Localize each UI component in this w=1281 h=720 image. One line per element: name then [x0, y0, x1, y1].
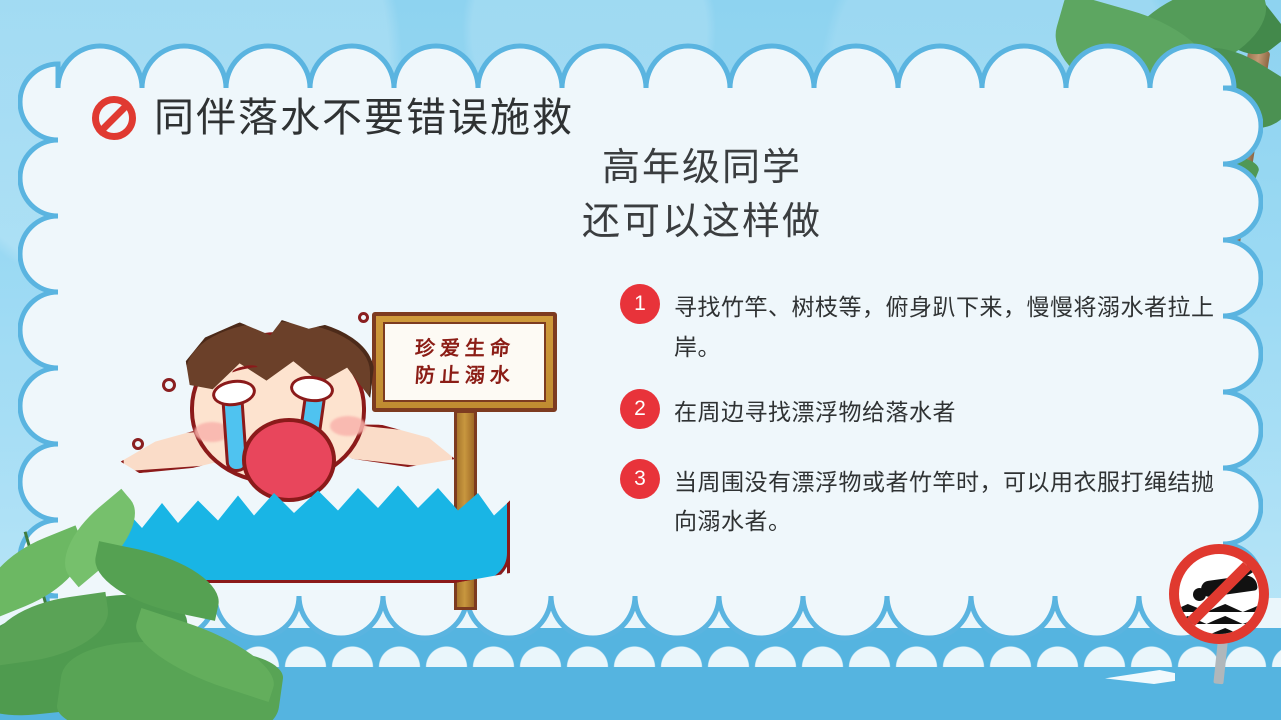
subtitle: 高年级同学 还可以这样做	[452, 142, 952, 250]
subtitle-line-1: 高年级同学	[452, 142, 952, 196]
sign-text-line-2: 防止溺水	[414, 363, 516, 388]
list-item-text: 在周边寻找漂浮物给落水者	[674, 393, 956, 433]
list-item-text: 寻找竹竿、树枝等，俯身趴下来，慢慢将溺水者拉上岸。	[674, 288, 1220, 367]
bubble-icon	[132, 438, 144, 450]
advice-list: 1 寻找竹竿、树枝等，俯身趴下来，慢慢将溺水者拉上岸。 2 在周边寻找漂浮物给落…	[620, 288, 1220, 568]
page-title: 同伴落水不要错误施救	[154, 98, 574, 138]
no-swimming-icon	[1169, 544, 1269, 644]
sign-text-line-1: 珍爱生命	[414, 336, 516, 361]
list-item-number: 3	[620, 459, 660, 499]
wave-line	[1179, 628, 1269, 636]
leaves-decoration	[0, 450, 270, 720]
list-item: 3 当周围没有漂浮物或者竹竿时，可以用衣服打绳结抛向溺水者。	[620, 463, 1220, 542]
list-item-number: 2	[620, 389, 660, 429]
list-item: 1 寻找竹竿、树枝等，俯身趴下来，慢慢将溺水者拉上岸。	[620, 288, 1220, 367]
swimmer-head	[1193, 588, 1206, 601]
subtitle-line-2: 还可以这样做	[452, 196, 952, 250]
list-item-number: 1	[620, 284, 660, 324]
bubble-icon	[358, 312, 369, 323]
no-swimming-sign	[1163, 544, 1273, 674]
title-row: 同伴落水不要错误施救	[92, 96, 574, 140]
list-item: 2 在周边寻找漂浮物给落水者	[620, 393, 1220, 433]
list-item-text: 当周围没有漂浮物或者竹竿时，可以用衣服打绳结抛向溺水者。	[674, 463, 1220, 542]
prohibition-slash	[1173, 548, 1264, 639]
prohibition-icon	[92, 96, 136, 140]
child-cheek	[330, 416, 366, 436]
slide-canvas: 同伴落水不要错误施救 高年级同学 还可以这样做 1 寻找竹竿、树枝等，俯身趴下来…	[0, 0, 1281, 720]
